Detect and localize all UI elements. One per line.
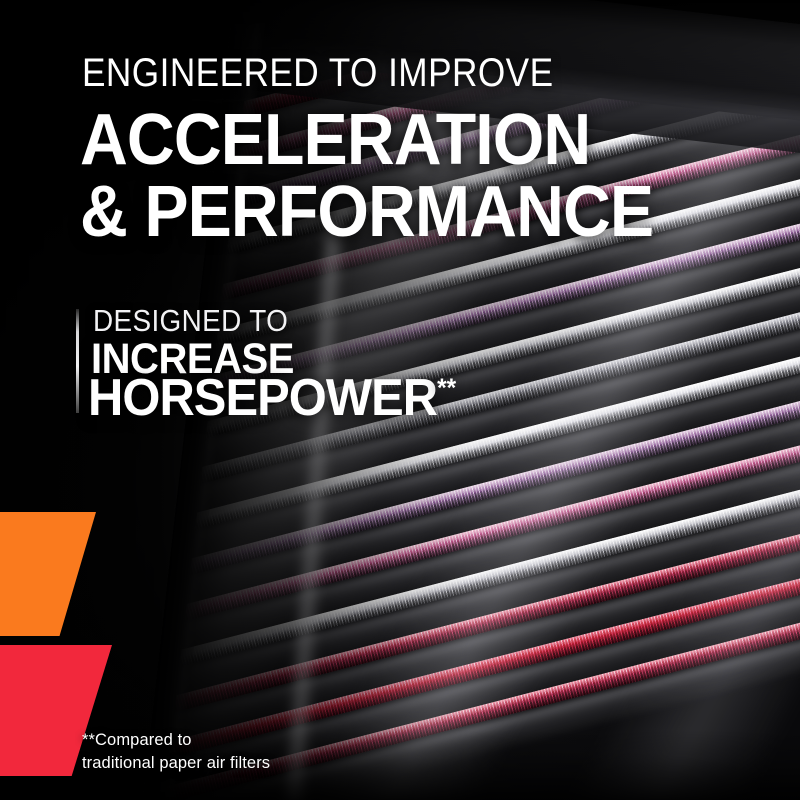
footnote-block: **Compared to traditional paper air filt… — [82, 729, 270, 776]
headline-line-2: & PERFORMANCE — [80, 176, 653, 248]
subhead-line-2-text: HORSEPOWER — [88, 369, 437, 427]
footnote-line-1: **Compared to — [82, 729, 270, 752]
footnote-line-2: traditional paper air filters — [82, 752, 270, 775]
vertical-accent-rule — [76, 309, 79, 413]
footnote-marker: ** — [437, 373, 456, 403]
subhead-eyebrow: DESIGNED TO — [93, 305, 288, 336]
headline-line-1: ACCELERATION — [80, 104, 590, 176]
headline-eyebrow: ENGINEERED TO IMPROVE — [82, 53, 554, 93]
copy-layer: ENGINEERED TO IMPROVE ACCELERATION & PER… — [0, 0, 800, 800]
subhead-line-2: HORSEPOWER** — [88, 372, 456, 424]
promo-banner: ENGINEERED TO IMPROVE ACCELERATION & PER… — [0, 0, 800, 800]
